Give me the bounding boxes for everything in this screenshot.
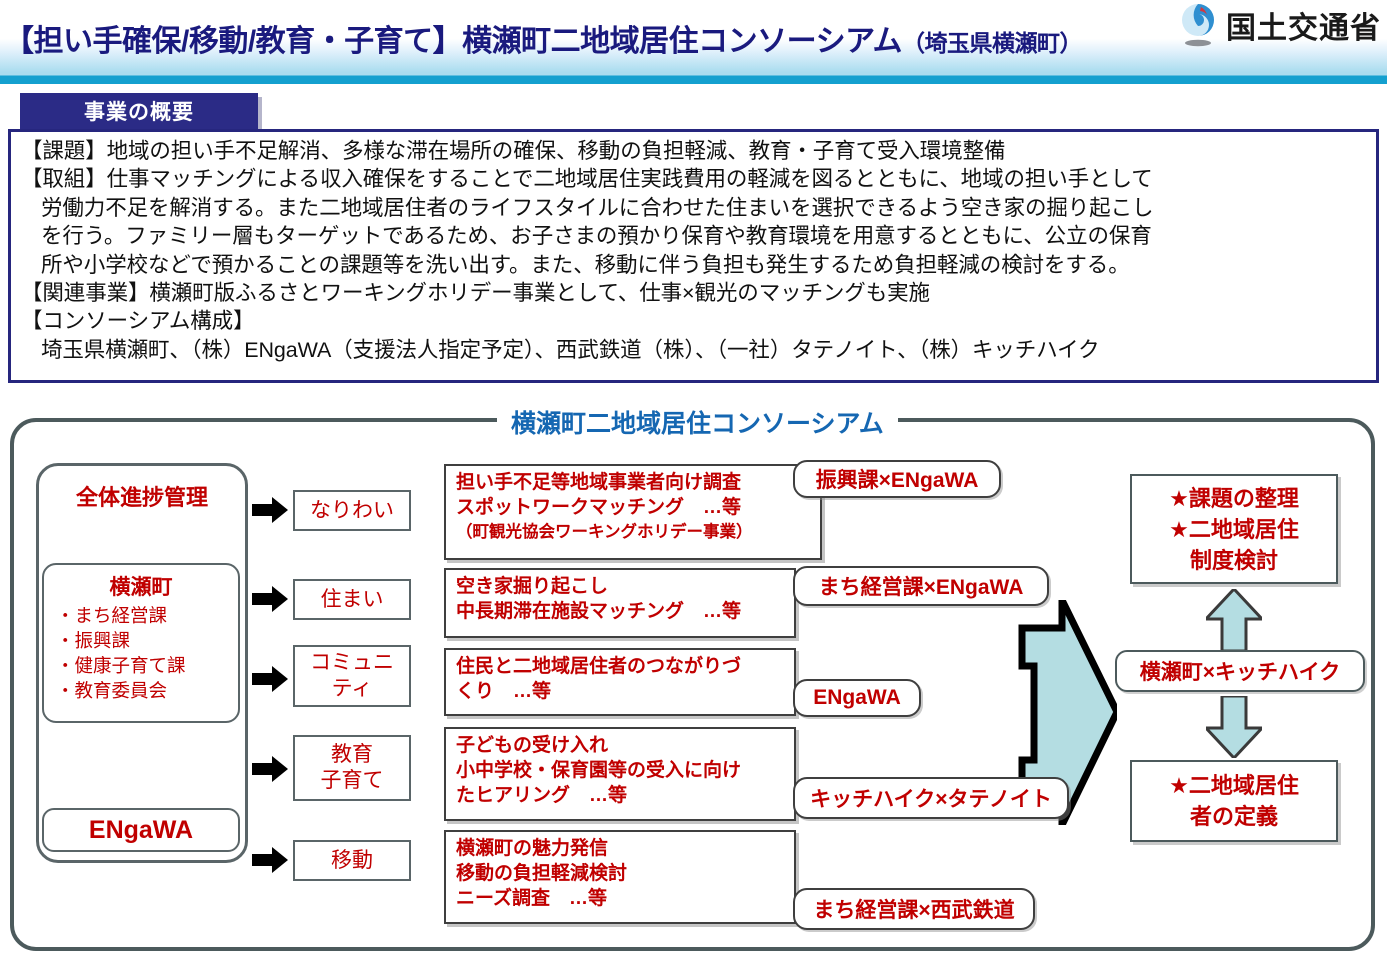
overview-banner-label: 事業の概要 (84, 96, 194, 126)
category-label: なりわい (310, 498, 394, 524)
tag-narawai: 振興課×ENgaWA (793, 460, 1001, 498)
content-line: くり …等 (456, 679, 794, 704)
content-line: 横瀬町の魅力発信 (456, 836, 794, 861)
content-box-community: 住民と二地域居住者のつながりづ くり …等 (444, 648, 796, 716)
content-line: 小中学校・保育園等の受入に向け (456, 758, 794, 783)
overview-line: 【課題】地域の担い手不足解消、多様な滞在場所の確保、移動の負担軽減、教育・子育て… (21, 137, 1366, 165)
ministry-name: 国土交通省 (1226, 3, 1381, 47)
outcome-line: ★二地域居住 (1169, 770, 1299, 801)
overview-line: を行う。ファミリー層もターゲットであるため、お子さまの預かり保育や教育環境を用意… (21, 222, 1366, 250)
slide-page: 【担い手確保/移動/教育・子育て】横瀬町二地域居住コンソーシアム（埼玉県横瀬町）… (0, 0, 1387, 960)
outcome-line: 制度検討 (1190, 545, 1278, 576)
category-label: 住まい (321, 587, 384, 613)
tag-label: 振興課×ENgaWA (816, 464, 979, 494)
tag-mobility: まち経営課×西武鉄道 (793, 888, 1035, 930)
content-box-sumai: 空き家掘り起こし 中長期滞在施設マッチング …等 (444, 568, 796, 638)
town-department: ・健康子育て課 (44, 653, 238, 678)
tag-label: キッチハイク×タテノイト (810, 783, 1052, 813)
tag-label: まち経営課×西武鉄道 (813, 894, 1014, 924)
content-line: ニーズ調査 …等 (456, 886, 794, 911)
content-box-education: 子どもの受け入れ 小中学校・保育園等の受入に向け たヒアリング …等 (444, 727, 796, 821)
outcome-line: ★課題の整理 (1169, 483, 1299, 514)
right-arrow-icon (252, 495, 288, 525)
category-box-mobility: 移動 (293, 840, 411, 881)
content-box-mobility: 横瀬町の魅力発信 移動の負担軽減検討 ニーズ調査 …等 (444, 830, 796, 924)
town-department: ・まち経営課 (44, 603, 238, 628)
content-line: 空き家掘り起こし (456, 574, 794, 599)
outcome-middle-label: 横瀬町×キッチハイク (1140, 656, 1340, 686)
tag-community: ENgaWA (793, 679, 921, 717)
right-arrow-icon (252, 584, 288, 614)
category-box-narawai: なりわい (293, 490, 411, 531)
overview-line: 【取組】仕事マッチングによる収入確保をすることで二地域居住実践費用の軽減を図ると… (21, 165, 1366, 193)
outcome-line: ★二地域居住 (1169, 514, 1299, 545)
overview-line: 所や小学校などで預かることの課題等を洗い出す。また、移動に伴う負担も発生するため… (21, 251, 1366, 279)
content-line: 移動の負担軽減検討 (456, 861, 794, 886)
town-name: 横瀬町 (44, 571, 238, 601)
management-heading: 全体進捗管理 (36, 480, 248, 512)
tag-label: ENgaWA (813, 686, 901, 710)
diagram-title: 横瀬町二地域居住コンソーシアム (497, 404, 898, 440)
mlit-swirl-logo-icon (1177, 2, 1219, 48)
partner-label: ENgaWA (89, 816, 193, 845)
content-line: スポットワークマッチング …等 (456, 495, 820, 520)
overview-line: 埼玉県横瀬町、（株）ENgaWA（支援法人指定予定）、西武鉄道（株）、（一社）タ… (21, 336, 1366, 364)
page-title-main: 【担い手確保/移動/教育・子育て】横瀬町二地域居住コンソーシアム (4, 25, 902, 58)
content-line: 担い手不足等地域事業者向け調査 (456, 470, 820, 495)
tag-sumai: まち経営課×ENgaWA (793, 566, 1049, 606)
content-line: 子どもの受け入れ (456, 733, 794, 758)
page-title: 【担い手確保/移動/教育・子育て】横瀬町二地域居住コンソーシアム（埼玉県横瀬町） (4, 16, 1082, 60)
outcome-box-bottom: ★二地域居住 者の定義 (1130, 760, 1338, 842)
overview-line: 労働力不足を解消する。また二地域居住者のライフスタイルに合わせた住まいを選択でき… (21, 194, 1366, 222)
down-arrow-icon (1206, 696, 1262, 758)
tag-label: まち経営課×ENgaWA (819, 571, 1024, 601)
town-box: 横瀬町 ・まち経営課 ・振興課 ・健康子育て課 ・教育委員会 (42, 563, 240, 723)
category-box-sumai: 住まい (293, 579, 411, 620)
overview-banner: 事業の概要 (20, 93, 258, 129)
content-line: （町観光協会ワーキングホリデー事業） (456, 520, 820, 545)
outcome-box-top: ★課題の整理 ★二地域居住 制度検討 (1130, 474, 1338, 584)
category-label: 教育 子育て (321, 742, 384, 794)
category-label: 移動 (331, 848, 373, 874)
outcome-line: 者の定義 (1190, 801, 1278, 832)
partner-box-engawa: ENgaWA (42, 808, 240, 852)
category-box-community: コミュニ ティ (293, 645, 411, 707)
overview-line: 【関連事業】横瀬町版ふるさとワーキングホリデー事業として、仕事×観光のマッチング… (21, 279, 1366, 307)
page-title-sub: （埼玉県横瀬町） (902, 30, 1082, 56)
content-line: たヒアリング …等 (456, 783, 794, 808)
tag-education: キッチハイク×タテノイト (793, 777, 1069, 819)
content-box-narawai: 担い手不足等地域事業者向け調査 スポットワークマッチング …等 （町観光協会ワー… (444, 464, 822, 560)
right-arrow-icon (252, 845, 288, 875)
right-arrow-icon (252, 754, 288, 784)
town-department: ・振興課 (44, 628, 238, 653)
up-arrow-icon (1206, 589, 1262, 651)
right-arrow-icon (252, 664, 288, 694)
content-line: 住民と二地域居住者のつながりづ (456, 654, 794, 679)
overview-line: 【コンソーシアム構成】 (21, 307, 1366, 335)
content-line: 中長期滞在施設マッチング …等 (456, 599, 794, 624)
page-header: 【担い手確保/移動/教育・子育て】横瀬町二地域居住コンソーシアム（埼玉県横瀬町）… (0, 0, 1387, 84)
town-department: ・教育委員会 (44, 678, 238, 703)
ministry-logo: 国土交通省 (1177, 2, 1381, 48)
category-label: コミュニ ティ (310, 650, 394, 702)
overview-box: 【課題】地域の担い手不足解消、多様な滞在場所の確保、移動の負担軽減、教育・子育て… (8, 129, 1379, 383)
category-box-education: 教育 子育て (293, 735, 411, 801)
outcome-middle-tag: 横瀬町×キッチハイク (1115, 650, 1365, 692)
